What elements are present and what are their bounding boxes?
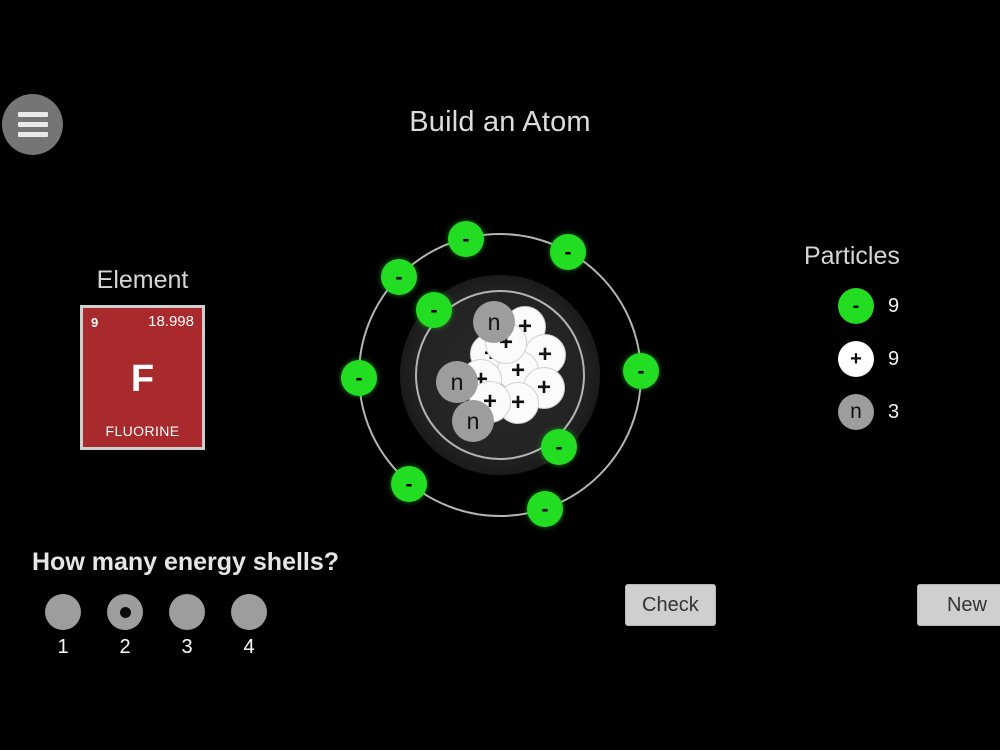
new-button[interactable]: New	[917, 584, 1000, 626]
energy-shells-option-4[interactable]: 4	[218, 594, 280, 659]
radio-label-2: 2	[94, 636, 156, 659]
shell-electron-8[interactable]: -	[391, 466, 427, 502]
neutron-icon[interactable]: n	[838, 394, 874, 430]
proton-icon[interactable]: +	[838, 341, 874, 377]
particles-heading: Particles	[780, 242, 980, 271]
shell-electron-1[interactable]: -	[416, 292, 452, 328]
radio-label-4: 4	[218, 636, 280, 659]
radio-button-1[interactable]	[45, 594, 81, 630]
shell-electron-2[interactable]: -	[541, 429, 577, 465]
electron-count: 9	[888, 295, 899, 318]
page-title: Build an Atom	[0, 106, 1000, 139]
nucleus-neutron-1[interactable]: n	[473, 301, 515, 343]
radio-button-4[interactable]	[231, 594, 267, 630]
nucleus-neutron-3[interactable]: n	[452, 400, 494, 442]
energy-shells-radio-group[interactable]: 1234	[32, 594, 339, 659]
radio-label-3: 3	[156, 636, 218, 659]
shell-electron-7[interactable]: -	[623, 353, 659, 389]
element-symbol: F	[83, 358, 202, 401]
app-root: Build an Atom Element 9 18.998 F FLUORIN…	[0, 0, 1000, 750]
element-name: FLUORINE	[83, 423, 202, 439]
radio-label-1: 1	[32, 636, 94, 659]
element-card: 9 18.998 F FLUORINE	[80, 305, 205, 450]
electron-icon[interactable]: -	[838, 288, 874, 324]
question-text: How many energy shells?	[32, 548, 339, 577]
energy-shells-option-3[interactable]: 3	[156, 594, 218, 659]
atom-diagram: +++++++++nnn---------	[340, 215, 660, 535]
particle-row-proton[interactable]: +9	[780, 341, 980, 377]
particles-list: -9+9n3	[780, 288, 980, 430]
atom-canvas: +++++++++nnn---------	[340, 215, 660, 535]
radio-button-3[interactable]	[169, 594, 205, 630]
neutron-count: 3	[888, 401, 899, 424]
shell-electron-3[interactable]: -	[448, 221, 484, 257]
particles-panel: Particles -9+9n3	[780, 242, 980, 430]
particle-row-neutron[interactable]: n3	[780, 394, 980, 430]
proton-count: 9	[888, 348, 899, 371]
nucleus-neutron-2[interactable]: n	[436, 361, 478, 403]
radio-button-2-selected[interactable]	[107, 594, 143, 630]
shell-electron-6[interactable]: -	[341, 360, 377, 396]
energy-shells-option-2[interactable]: 2	[94, 594, 156, 659]
element-heading: Element	[60, 266, 225, 295]
energy-shells-question: How many energy shells? 1234	[32, 548, 339, 659]
element-atomic-mass: 18.998	[148, 313, 194, 330]
element-atomic-number: 9	[91, 315, 98, 330]
shell-electron-5[interactable]: -	[381, 259, 417, 295]
shell-electron-4[interactable]: -	[550, 234, 586, 270]
shell-electron-9[interactable]: -	[527, 491, 563, 527]
energy-shells-option-1[interactable]: 1	[32, 594, 94, 659]
element-panel: Element 9 18.998 F FLUORINE	[60, 266, 225, 450]
check-button[interactable]: Check	[625, 584, 716, 626]
particle-row-electron[interactable]: -9	[780, 288, 980, 324]
